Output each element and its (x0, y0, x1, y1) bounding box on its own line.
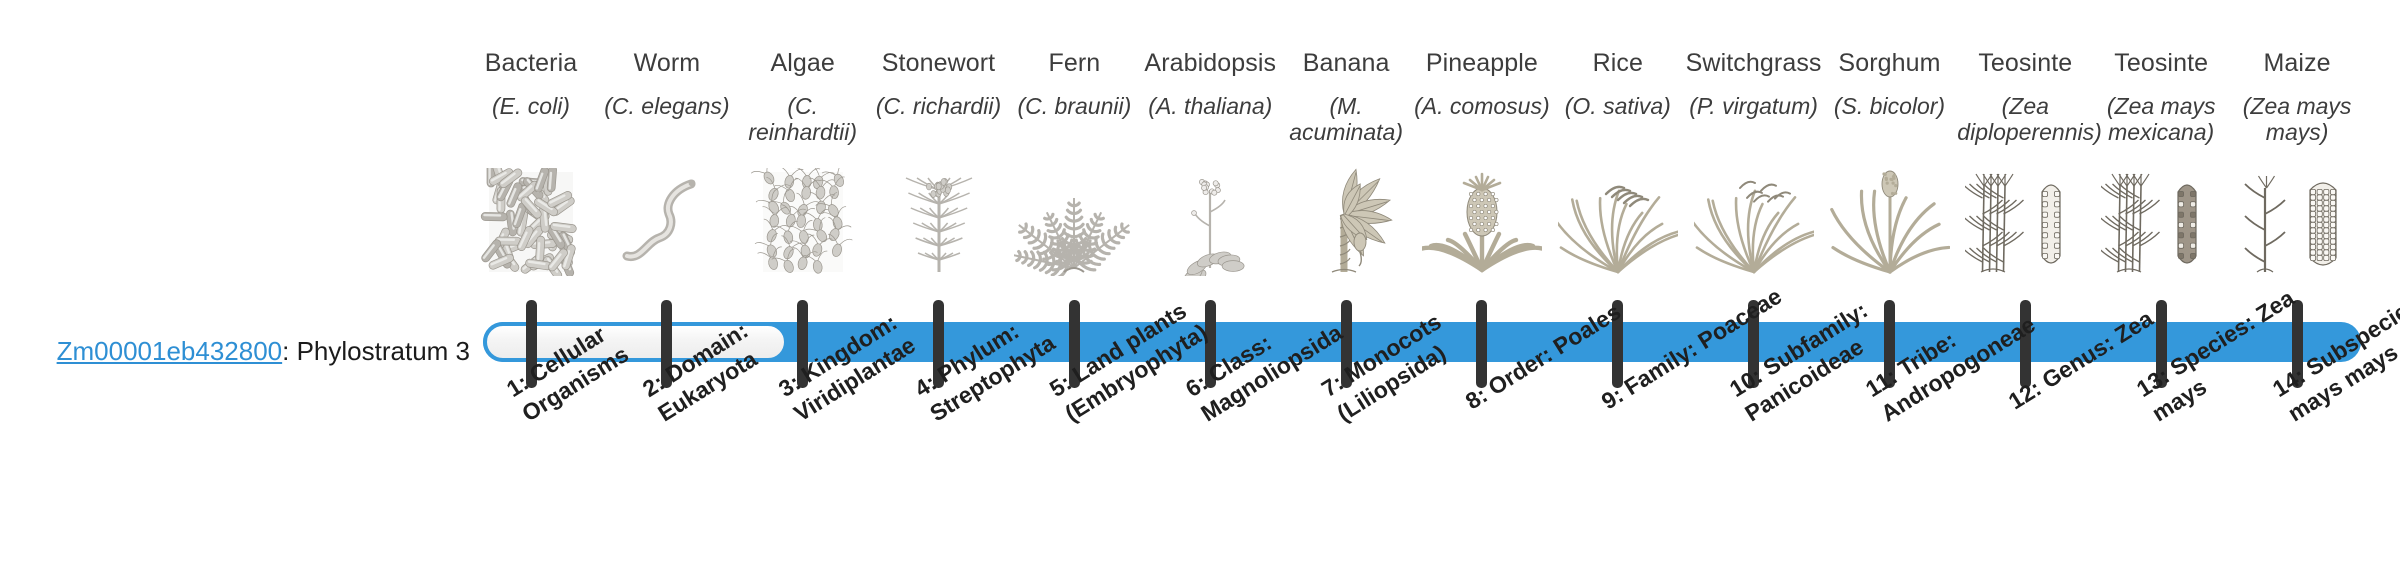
species-latin-name: (C. richardii) (871, 94, 1007, 152)
species-latin-name: (Zea diploperennis) (1957, 94, 2093, 152)
species-column-switchgrass-10: Switchgrass(P. virgatum) (1686, 50, 1822, 152)
species-column-teosinte-13: Teosinte(Zea mays mexicana) (2093, 50, 2229, 152)
species-column-maize-14: Maize(Zea mays mays) (2229, 50, 2365, 152)
stonewort-illustration (871, 166, 1007, 276)
species-latin-name: (A. thaliana) (1142, 94, 1278, 152)
species-latin-name: (A. comosus) (1414, 94, 1550, 152)
algae-illustration (735, 166, 871, 276)
species-column-worm-2: Worm(C. elegans) (599, 50, 735, 152)
species-common-name: Switchgrass (1686, 50, 1822, 84)
pineapple-illustration (1414, 166, 1550, 276)
species-latin-name: (C. braunii) (1006, 94, 1142, 152)
species-latin-name: (Zea mays mays) (2229, 94, 2365, 152)
teosinte-mexicana-illustration (2093, 166, 2229, 276)
species-common-name: Teosinte (2093, 50, 2229, 84)
species-column-teosinte-12: Teosinte(Zea diploperennis) (1957, 50, 2093, 152)
species-column-stonewort-4: Stonewort(C. richardii) (871, 50, 1007, 152)
species-common-name: Stonewort (871, 50, 1007, 84)
species-latin-name: (S. bicolor) (1822, 94, 1958, 152)
species-latin-name: (C. reinhardtii) (735, 94, 871, 152)
species-latin-name: (E. coli) (463, 94, 599, 152)
species-column-pineapple-8: Pineapple(A. comosus) (1414, 50, 1550, 152)
species-common-name: Fern (1006, 50, 1142, 84)
maize-illustration (2229, 166, 2365, 276)
teosinte-diploperennis-illustration (1957, 166, 2093, 276)
species-common-name: Worm (599, 50, 735, 84)
species-common-name: Arabidopsis (1142, 50, 1278, 84)
phylostratum-figure: Zm00001eb432800: Phylostratum 3 Bacteria… (0, 0, 2400, 580)
species-common-name: Rice (1550, 50, 1686, 84)
species-common-name: Maize (2229, 50, 2365, 84)
species-column-algae-3: Algae(C. reinhardtii) (735, 50, 871, 152)
species-column-arabidopsis-6: Arabidopsis(A. thaliana) (1142, 50, 1278, 152)
species-latin-name: (O. sativa) (1550, 94, 1686, 152)
worm-illustration (599, 166, 735, 276)
species-column-fern-5: Fern(C. braunii) (1006, 50, 1142, 152)
species-common-name: Bacteria (463, 50, 599, 84)
species-latin-name: (P. virgatum) (1686, 94, 1822, 152)
species-common-name: Algae (735, 50, 871, 84)
sorghum-illustration (1822, 166, 1958, 276)
species-common-name: Sorghum (1822, 50, 1958, 84)
species-column-sorghum-11: Sorghum(S. bicolor) (1822, 50, 1958, 152)
banana-illustration (1278, 166, 1414, 276)
species-common-name: Pineapple (1414, 50, 1550, 84)
rice-illustration (1550, 166, 1686, 276)
fern-illustration (1006, 166, 1142, 276)
species-latin-name: (M. acuminata) (1278, 94, 1414, 152)
bacteria-illustration (463, 166, 599, 276)
species-latin-name: (Zea mays mexicana) (2093, 94, 2229, 152)
species-latin-name: (C. elegans) (599, 94, 735, 152)
switchgrass-illustration (1686, 166, 1822, 276)
species-common-name: Banana (1278, 50, 1414, 84)
species-column-bacteria-1: Bacteria(E. coli) (463, 50, 599, 152)
arabidopsis-illustration (1142, 166, 1278, 276)
species-column-banana-7: Banana(M. acuminata) (1278, 50, 1414, 152)
species-common-name: Teosinte (1957, 50, 2093, 84)
species-column-rice-9: Rice(O. sativa) (1550, 50, 1686, 152)
